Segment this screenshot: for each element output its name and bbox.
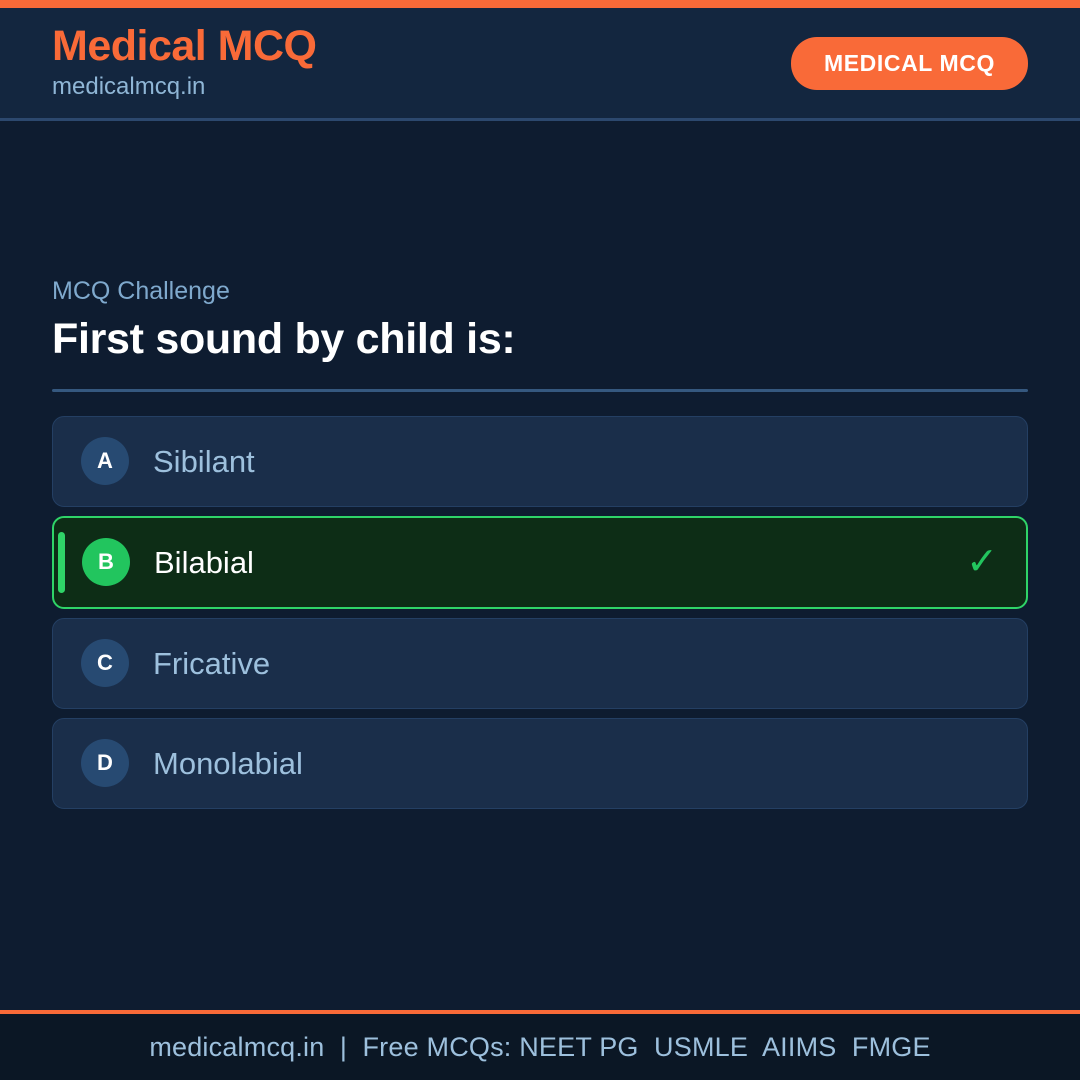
check-icon: ✓ bbox=[966, 543, 998, 581]
option-a[interactable]: A Sibilant bbox=[52, 416, 1028, 507]
eyebrow-label: MCQ Challenge bbox=[52, 276, 1028, 306]
question-text: First sound by child is: bbox=[52, 314, 1028, 365]
main-content: MCQ Challenge First sound by child is: A… bbox=[0, 121, 1080, 1010]
question-divider bbox=[52, 389, 1028, 392]
footer: medicalmcq.in | Free MCQs: NEET PG USMLE… bbox=[0, 1010, 1080, 1080]
option-letter-badge: D bbox=[81, 739, 129, 787]
option-label: Bilabial bbox=[154, 544, 254, 581]
mcq-card: Medical MCQ medicalmcq.in MEDICAL MCQ MC… bbox=[0, 0, 1080, 1080]
options-list: A Sibilant B Bilabial ✓ C Fricative bbox=[52, 416, 1028, 809]
footer-text: medicalmcq.in | Free MCQs: NEET PG USMLE… bbox=[149, 1032, 930, 1063]
brand-subtitle: medicalmcq.in bbox=[52, 71, 317, 102]
option-label: Fricative bbox=[153, 645, 270, 682]
brand: Medical MCQ medicalmcq.in bbox=[52, 24, 317, 102]
option-label: Monolabial bbox=[153, 745, 303, 782]
option-letter-badge: A bbox=[81, 437, 129, 485]
brand-badge: MEDICAL MCQ bbox=[791, 37, 1028, 90]
option-letter-badge: B bbox=[82, 538, 130, 586]
option-label: Sibilant bbox=[153, 443, 255, 480]
correct-accent-bar bbox=[58, 532, 65, 593]
brand-title: Medical MCQ bbox=[52, 24, 317, 69]
option-d[interactable]: D Monolabial bbox=[52, 718, 1028, 809]
option-b[interactable]: B Bilabial ✓ bbox=[52, 516, 1028, 609]
header: Medical MCQ medicalmcq.in MEDICAL MCQ bbox=[0, 8, 1080, 121]
option-letter-badge: C bbox=[81, 639, 129, 687]
option-c[interactable]: C Fricative bbox=[52, 618, 1028, 709]
top-accent-bar bbox=[0, 0, 1080, 8]
